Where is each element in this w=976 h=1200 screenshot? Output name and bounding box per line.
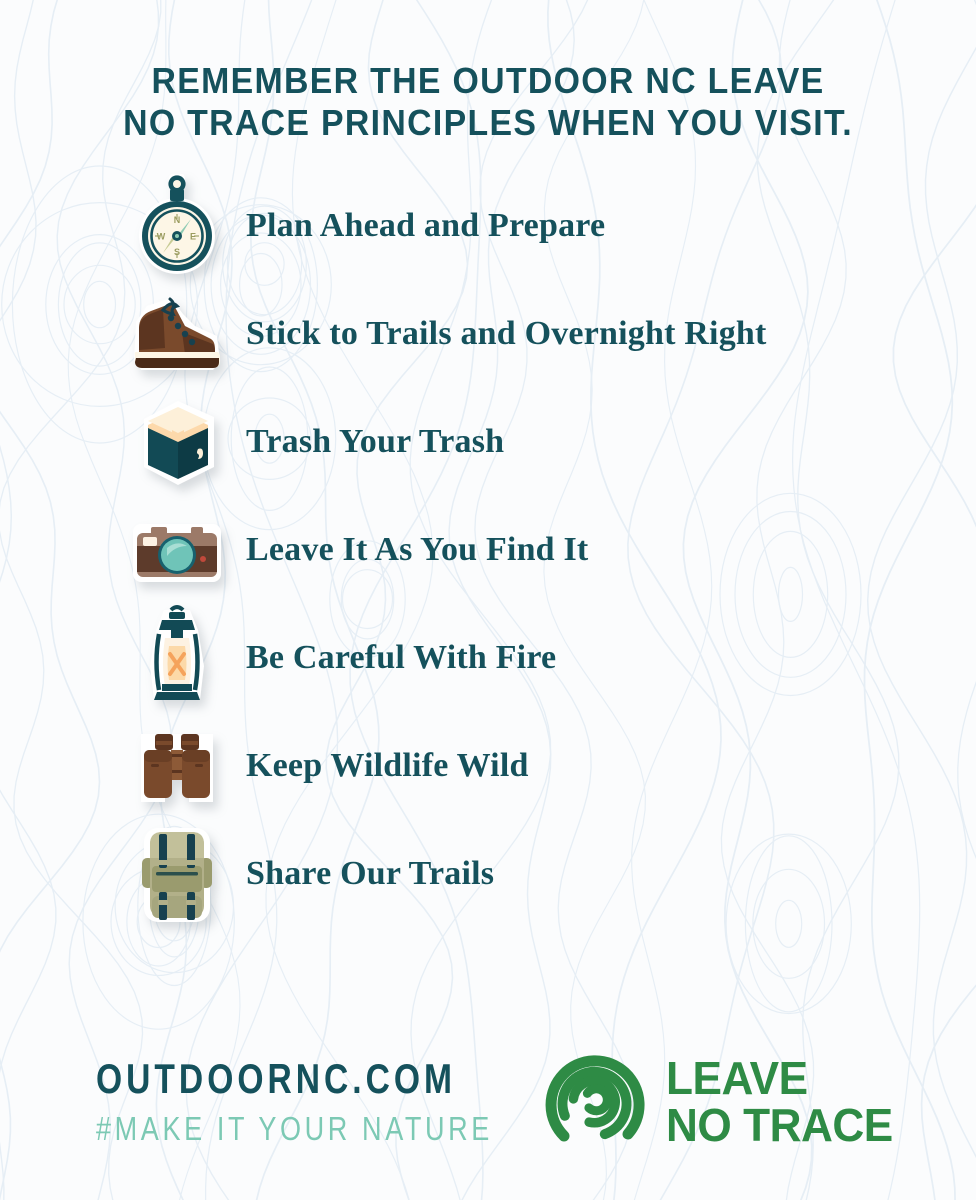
- principle-row: Leave It As You Find It: [118, 496, 976, 604]
- backpack-icon: [118, 820, 236, 928]
- trash-cooler-icon: [118, 388, 236, 496]
- leave-no-trace-logo[interactable]: LEAVE NO TRACE: [544, 1050, 902, 1154]
- hiking-boot-icon: [118, 280, 236, 388]
- leave-no-trace-line-1: LEAVE: [666, 1055, 893, 1102]
- outdoor-nc-website[interactable]: OUTDOORNC.COM: [96, 1056, 416, 1102]
- principle-row: Stick to Trails and Overnight Right: [118, 280, 976, 388]
- page-title: REMEMBER THE OUTDOOR NC LEAVE NO TRACE P…: [29, 0, 946, 144]
- svg-text:N: N: [174, 215, 181, 225]
- principle-row: Keep Wildlife Wild: [118, 712, 976, 820]
- infographic-page: REMEMBER THE OUTDOOR NC LEAVE NO TRACE P…: [0, 0, 976, 1200]
- principle-label: Share Our Trails: [236, 855, 494, 893]
- principle-row: Trash Your Trash: [118, 388, 976, 496]
- outdoor-nc-logo[interactable]: OUTDOORNC.COM #MAKE IT YOUR NATURE: [96, 1056, 496, 1148]
- principle-row: Share Our Trails: [118, 820, 976, 928]
- leave-no-trace-wordmark: LEAVE NO TRACE: [666, 1055, 893, 1149]
- principle-label: Stick to Trails and Overnight Right: [236, 315, 767, 353]
- title-line-2: NO TRACE PRINCIPLES WHEN YOU VISIT.: [29, 102, 946, 144]
- title-line-1: REMEMBER THE OUTDOOR NC LEAVE: [29, 60, 946, 102]
- principle-label: Keep Wildlife Wild: [236, 747, 529, 785]
- principle-label: Leave It As You Find It: [236, 531, 588, 569]
- lantern-icon: [118, 604, 236, 712]
- principle-label: Plan Ahead and Prepare: [236, 207, 605, 245]
- camera-icon: [118, 496, 236, 604]
- principles-list: N S W E Plan Ahead and Prepare: [0, 172, 976, 928]
- principle-label: Trash Your Trash: [236, 423, 504, 461]
- outdoor-nc-hashtag: #MAKE IT YOUR NATURE: [96, 1110, 424, 1148]
- footer: OUTDOORNC.COM #MAKE IT YOUR NATURE LEAVE…: [0, 1050, 976, 1154]
- principle-row: N S W E Plan Ahead and Prepare: [118, 172, 976, 280]
- svg-text:W: W: [157, 232, 166, 242]
- svg-text:S: S: [174, 247, 180, 257]
- principle-row: Be Careful With Fire: [118, 604, 976, 712]
- svg-text:E: E: [190, 232, 196, 242]
- compass-icon: N S W E: [118, 172, 236, 280]
- binoculars-icon: [118, 712, 236, 820]
- leave-no-trace-line-2: NO TRACE: [666, 1102, 893, 1149]
- principle-label: Be Careful With Fire: [236, 639, 556, 677]
- spiral-logo-icon: [544, 1050, 648, 1154]
